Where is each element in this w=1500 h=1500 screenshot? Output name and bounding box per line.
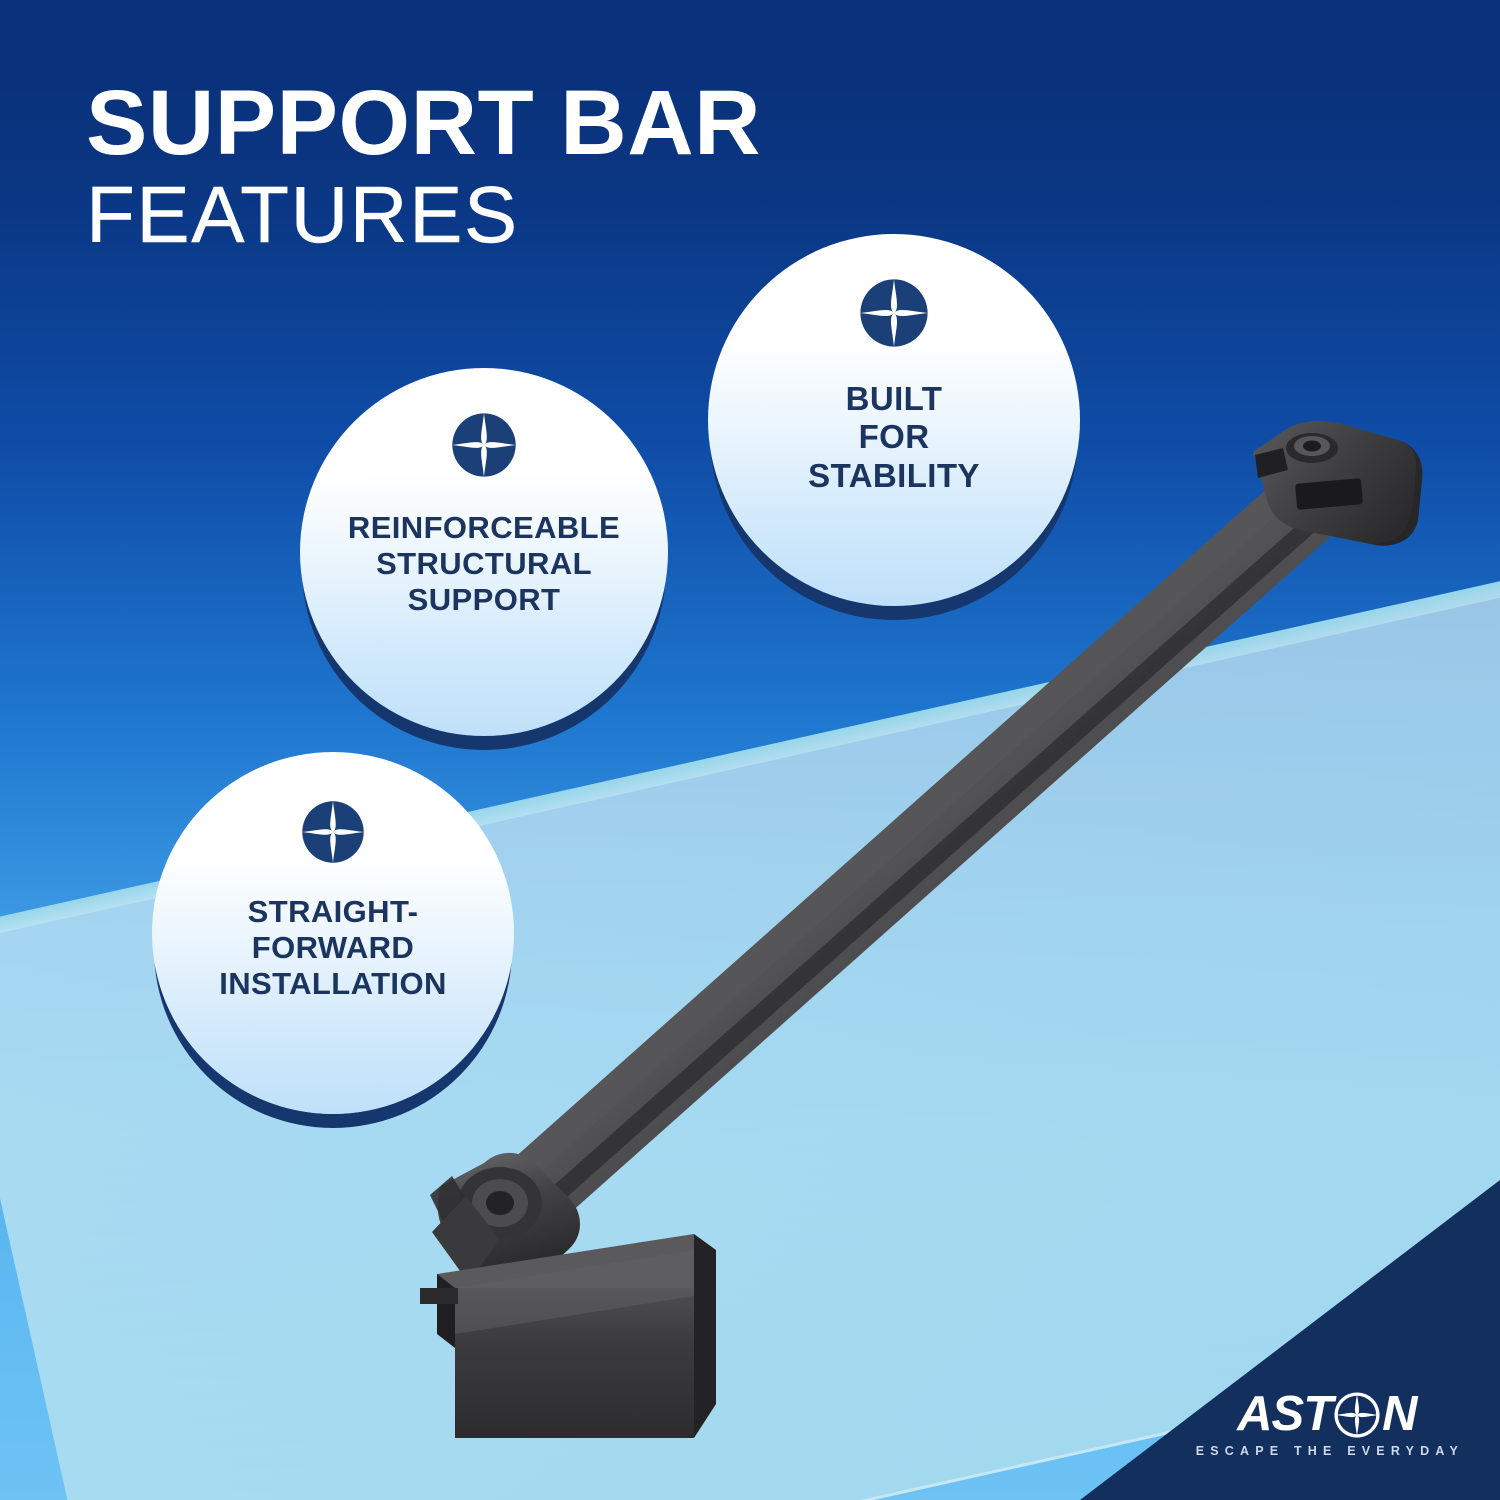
- logo-star-o-icon: [1333, 1391, 1381, 1439]
- feature-badge-straightforward-installation[interactable]: STRAIGHT- FORWARD INSTALLATION: [152, 752, 514, 1114]
- page-title: SUPPORT BAR FEATURES: [86, 78, 761, 256]
- feature-badge-label: STRAIGHT- FORWARD INSTALLATION: [209, 894, 457, 1002]
- title-line-secondary: FEATURES: [86, 174, 761, 256]
- logo-tagline: ESCAPE THE EVERYDAY: [1196, 1444, 1464, 1458]
- four-point-star-icon: [451, 412, 517, 478]
- logo-text-left: AST: [1237, 1390, 1332, 1439]
- title-line-primary: SUPPORT BAR: [86, 78, 761, 168]
- feature-badge-label: REINFORCEABLE STRUCTURAL SUPPORT: [338, 510, 630, 618]
- wall-mount-bracket: [1253, 421, 1422, 546]
- four-point-star-icon: [859, 278, 929, 348]
- logo-text-right: N: [1382, 1390, 1416, 1439]
- aston-logo: AST N ESCAPE THE EVERYDAY: [1196, 1390, 1458, 1458]
- feature-badge-label: BUILT FOR STABILITY: [798, 380, 990, 495]
- feature-badge-built-for-stability[interactable]: BUILT FOR STABILITY: [708, 234, 1080, 606]
- logo-wordmark: AST N: [1237, 1390, 1416, 1439]
- infographic-canvas: SUPPORT BAR FEATURES BUILT FOR STABILITY…: [0, 0, 1500, 1500]
- four-point-star-icon: [301, 800, 365, 864]
- feature-badge-reinforceable-structural-support[interactable]: REINFORCEABLE STRUCTURAL SUPPORT: [300, 368, 668, 736]
